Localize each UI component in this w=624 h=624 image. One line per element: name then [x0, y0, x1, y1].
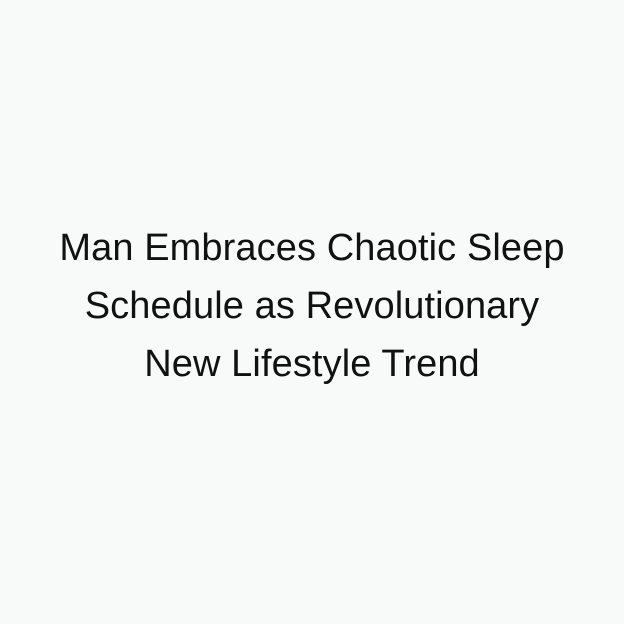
headline-canvas: Man Embraces Chaotic Sleep Schedule as R… — [0, 0, 624, 624]
headline-text: Man Embraces Chaotic Sleep Schedule as R… — [20, 219, 604, 393]
headline-block: Man Embraces Chaotic Sleep Schedule as R… — [10, 219, 614, 393]
